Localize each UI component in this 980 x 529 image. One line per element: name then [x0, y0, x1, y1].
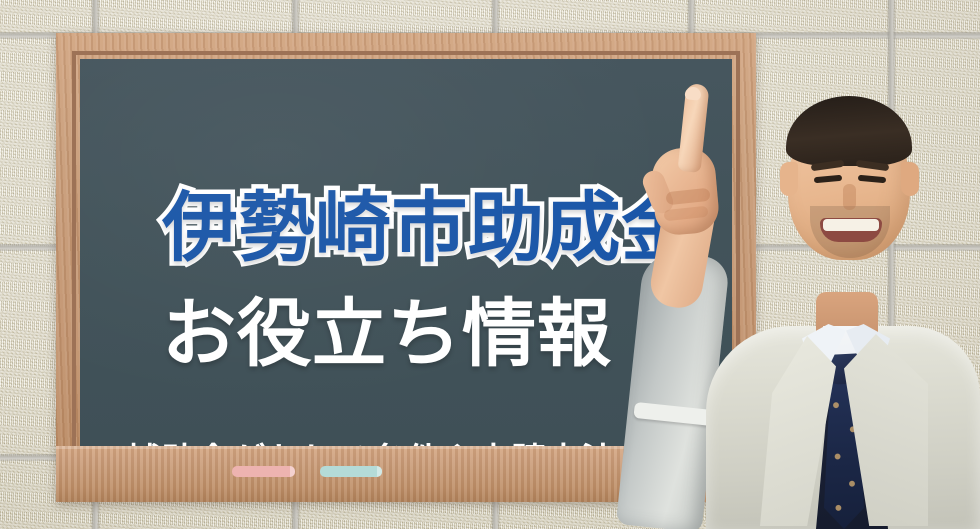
chalk-teal	[320, 466, 382, 477]
title-line-1: 伊勢崎市助成金	[162, 190, 698, 266]
presenter-photo	[620, 58, 980, 529]
presenter-nose	[843, 184, 856, 210]
presenter-hair	[786, 96, 912, 166]
chalk-pink	[232, 466, 295, 477]
title-line-2: お役立ち情報	[162, 297, 612, 371]
presenter-mouth	[820, 218, 882, 242]
thumbnail-canvas: 伊勢崎市助成金 お役立ち情報 補助金がおりる条件や申請方法も徹底解説	[0, 0, 980, 529]
presenter-ear-right	[901, 162, 919, 196]
board-text-block: 伊勢崎市助成金 お役立ち情報 補助金がおりる条件や申請方法も徹底解説	[104, 85, 708, 390]
presenter-teeth	[823, 219, 879, 231]
presenter-ear-left	[780, 162, 798, 196]
